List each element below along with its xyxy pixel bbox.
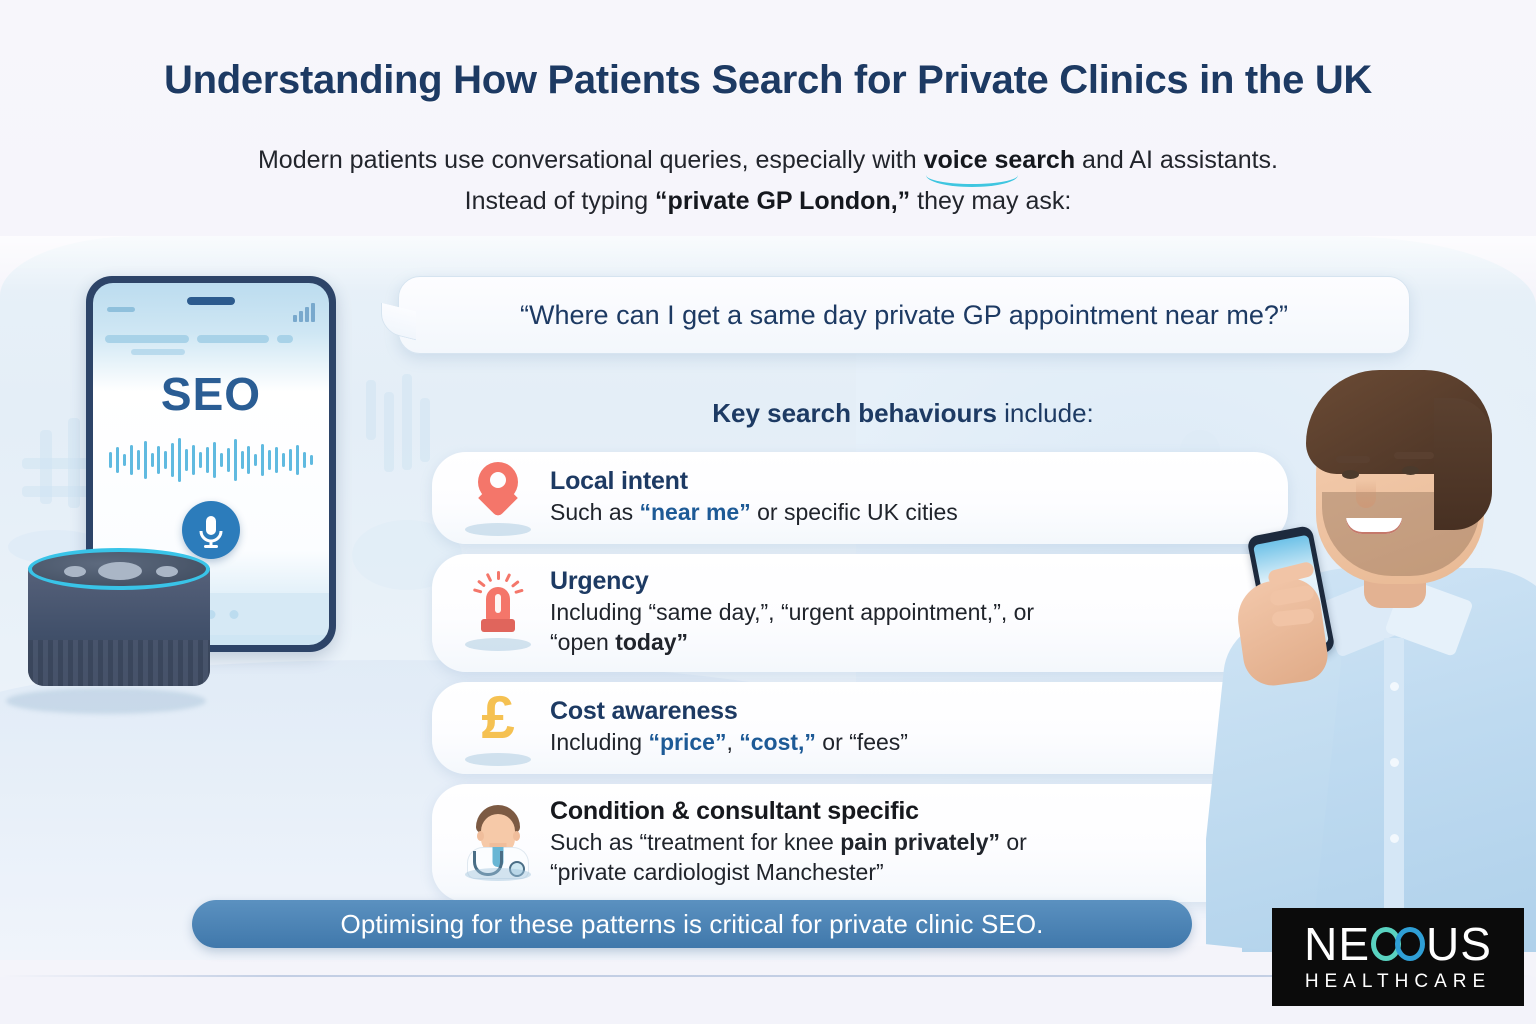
card-description-line2: “open today” — [550, 628, 1262, 657]
icon-shadow — [465, 753, 531, 766]
card-body: Urgency Including “same day,”, “urgent a… — [546, 567, 1262, 656]
speaker-top-ring — [28, 548, 210, 590]
speech-bubble-quote: “Where can I get a same day private GP a… — [399, 277, 1409, 353]
typed-query-example: “private GP London,” — [655, 187, 910, 215]
infographic-canvas: Understanding How Patients Search for Pr… — [0, 0, 1536, 1024]
person-hair-side — [1434, 398, 1492, 530]
siren-ray — [473, 589, 482, 594]
infinity-ring-right — [1395, 927, 1425, 961]
subtitle-text-a: Modern patients use conversational queri… — [258, 146, 924, 174]
subtitle-text-d: they may ask: — [910, 187, 1071, 215]
screen-placeholder-line-3 — [277, 335, 293, 343]
smart-speaker-icon — [28, 548, 210, 702]
pound-glyph: £ — [481, 688, 514, 748]
speaker-button-center — [98, 562, 142, 580]
screen-header-line — [107, 307, 135, 312]
signal-bars-icon — [293, 303, 315, 322]
desc-part-a: Such as — [550, 499, 640, 525]
person-brow-right — [1394, 452, 1434, 459]
siren-ray — [505, 573, 511, 582]
infinity-double-o-icon — [1371, 924, 1425, 964]
subtitle-line-2: Instead of typing “private GP London,” t… — [0, 181, 1536, 222]
voice-search-emphasis: voice search — [924, 140, 1076, 181]
phone-notch — [187, 297, 235, 305]
person-nose — [1356, 480, 1376, 508]
desc-strong: pain privately” — [840, 829, 1000, 855]
desc-line2-strong: today” — [615, 629, 688, 655]
map-pin-glyph — [478, 462, 518, 516]
behaviour-card-local-intent[interactable]: Local intent Such as “near me” or specif… — [432, 452, 1288, 544]
map-pin-icon — [450, 454, 546, 540]
subtitle-line-1: Modern patients use conversational queri… — [0, 140, 1536, 181]
desc-mid: , — [726, 729, 739, 755]
nexus-healthcare-logo: NE US HEALTHCARE — [1272, 908, 1524, 1006]
siren-ray — [497, 571, 500, 580]
page-subtitle: Modern patients use conversational queri… — [0, 140, 1536, 221]
card-description: Including “price”, “cost,” or “fees” — [550, 728, 1262, 757]
card-body: Condition & consultant specific Such as … — [546, 797, 1262, 886]
desc-part-a: Including — [550, 729, 648, 755]
desc-part-b: or specific UK cities — [751, 499, 958, 525]
shirt-button-1 — [1390, 682, 1399, 691]
siren-ray — [511, 580, 520, 588]
pound-sign-icon: £ — [450, 684, 546, 770]
key-behaviours-strong: Key search behaviours — [712, 398, 997, 428]
desc-highlight: “near me” — [640, 499, 751, 525]
card-title: Urgency — [550, 567, 1262, 596]
desc-part-b: or “fees” — [816, 729, 908, 755]
desc-line2-a: “open — [550, 629, 615, 655]
voice-search-label: voice search — [924, 146, 1076, 174]
page-title: Understanding How Patients Search for Pr… — [0, 58, 1536, 103]
desc-part-a: Including “same day,”, “urgent appointme… — [550, 599, 1034, 625]
screen-placeholder-line-4 — [131, 349, 185, 355]
decor-mark-6 — [384, 392, 394, 472]
subtitle-text-b: and AI assistants. — [1075, 146, 1278, 174]
alarm-siren-icon — [450, 569, 546, 655]
shirt-button-3 — [1390, 834, 1399, 843]
seo-screen-label: SEO — [93, 367, 329, 421]
doctor-ear-left — [477, 831, 484, 841]
card-title: Condition & consultant specific — [550, 797, 1262, 826]
doctor-ear-right — [513, 831, 520, 841]
card-description: Such as “treatment for knee pain private… — [550, 828, 1262, 857]
footer-banner: Optimising for these patterns is critica… — [192, 900, 1192, 948]
speaker-button-left — [64, 566, 86, 577]
key-behaviours-rest: include: — [997, 398, 1094, 428]
card-description: Such as “near me” or specific UK cities — [550, 498, 1262, 527]
siren-ray — [486, 573, 492, 582]
icon-shadow — [465, 868, 531, 881]
desc-highlight-1: “price” — [648, 729, 726, 755]
doctor-avatar-icon — [450, 799, 546, 885]
desc-highlight-2: “cost,” — [739, 729, 816, 755]
doctor-glyph — [465, 805, 531, 877]
person-mouth — [1346, 518, 1402, 534]
siren-ray — [477, 580, 486, 588]
logo-tagline: HEALTHCARE — [1305, 971, 1491, 993]
voice-waveform-icon — [109, 435, 313, 485]
behaviour-card-condition-consultant[interactable]: Condition & consultant specific Such as … — [432, 784, 1288, 902]
subtitle-text-c: Instead of typing — [465, 187, 655, 215]
person-brow-left — [1336, 456, 1370, 463]
card-title: Local intent — [550, 467, 1262, 496]
behaviour-card-list: Local intent Such as “near me” or specif… — [432, 452, 1288, 912]
screen-placeholder-line-1 — [105, 335, 189, 343]
screen-placeholder-line-2 — [197, 335, 269, 343]
shirt-button-2 — [1390, 758, 1399, 767]
card-body: Local intent Such as “near me” or specif… — [546, 467, 1262, 527]
person-eye-right — [1402, 466, 1419, 475]
desc-part-b: or — [1000, 829, 1027, 855]
desc-part-a: Such as “treatment for knee — [550, 829, 840, 855]
icon-shadow — [465, 638, 531, 651]
icon-shadow — [465, 523, 531, 536]
logo-wordmark: NE US — [1304, 921, 1492, 967]
siren-dome — [486, 587, 510, 621]
logo-word-right: US — [1426, 921, 1492, 967]
card-body: Cost awareness Including “price”, “cost,… — [546, 697, 1262, 757]
person-eye-left — [1342, 470, 1359, 479]
behaviour-card-cost-awareness[interactable]: £ Cost awareness Including “price”, “cos… — [432, 682, 1288, 774]
pin-hole — [490, 472, 506, 488]
card-title: Cost awareness — [550, 697, 1262, 726]
behaviour-card-urgency[interactable]: Urgency Including “same day,”, “urgent a… — [432, 554, 1288, 672]
siren-glyph — [481, 579, 515, 635]
person-photo — [1206, 352, 1536, 952]
siren-ray — [514, 589, 523, 594]
footer-banner-text: Optimising for these patterns is critica… — [341, 909, 1044, 940]
siren-base — [481, 619, 515, 632]
card-description-line2: “private cardiologist Manchester” — [550, 858, 1262, 887]
logo-word-left: NE — [1304, 921, 1370, 967]
decor-mark-5 — [366, 380, 376, 440]
speech-bubble: “Where can I get a same day private GP a… — [398, 276, 1410, 354]
speaker-button-right — [156, 566, 178, 577]
card-description: Including “same day,”, “urgent appointme… — [550, 598, 1262, 627]
